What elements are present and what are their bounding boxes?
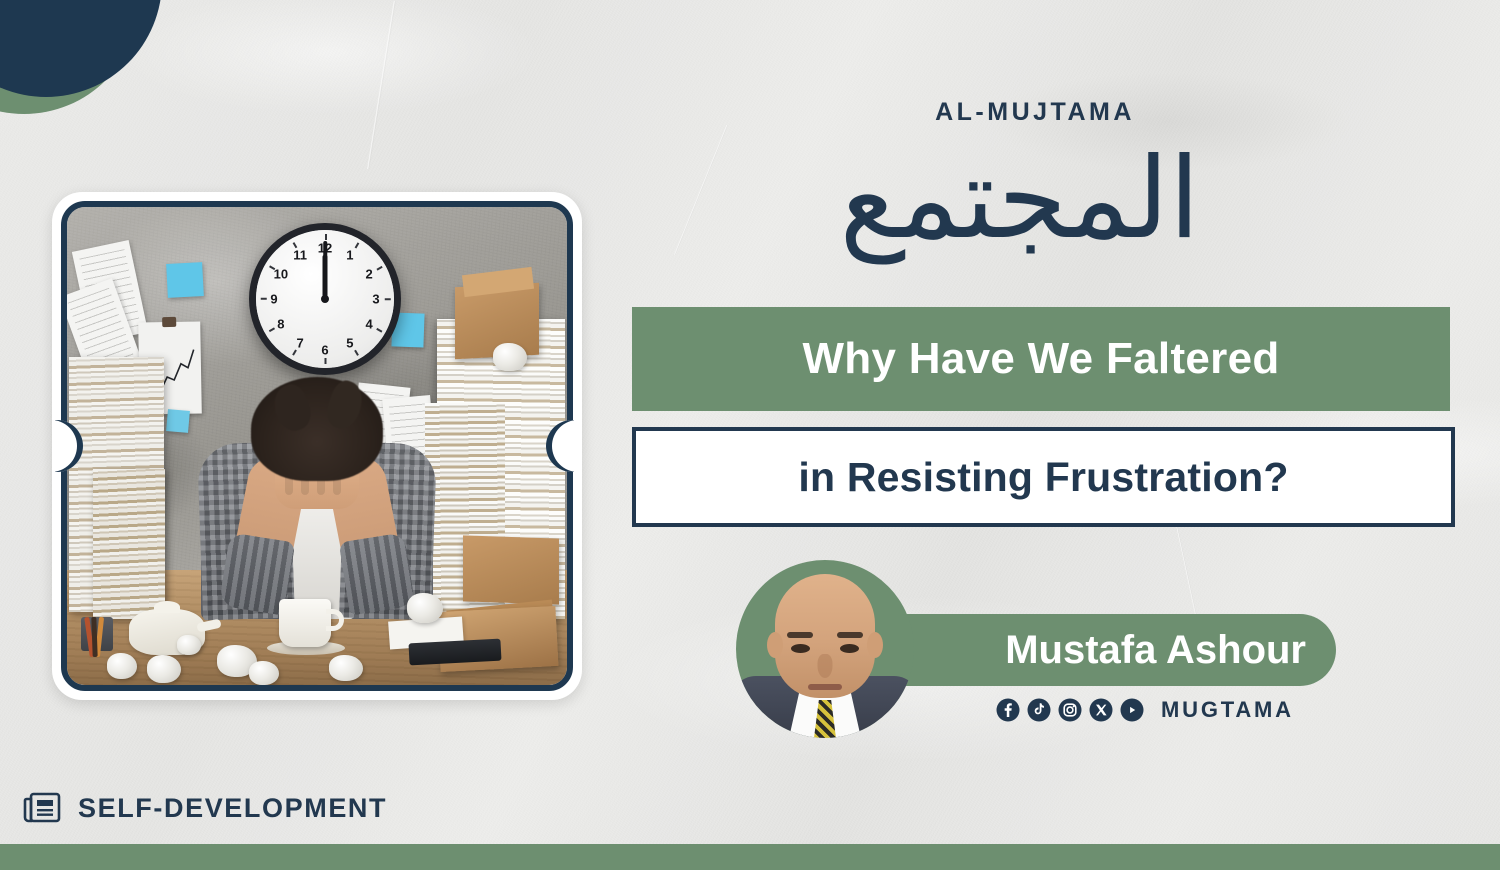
youtube-icon[interactable] [1120,698,1144,722]
hair-tuft [268,380,317,435]
chart-clip [162,317,176,327]
paper-stack [93,469,165,619]
crumpled-paper [493,343,527,371]
article-title-line-2: in Resisting Frustration? [632,427,1455,527]
clock-numeral: 1 [346,248,353,261]
sticky-note [166,262,204,298]
social-handle: MUGTAMA [1161,699,1294,721]
avatar-eye [840,644,859,653]
footer-bar [0,844,1500,870]
newspaper-icon [22,790,62,826]
avatar-brow [787,632,813,638]
clock-center-pin [321,295,329,303]
hair-tuft [322,377,368,433]
crumpled-paper [407,593,443,623]
article-title-line-1-text: Why Have We Faltered [802,337,1279,381]
clock-numeral: 8 [277,317,284,330]
teapot-lid [154,601,180,613]
category-label: SELF-DEVELOPMENT [78,795,387,822]
clock-numeral: 9 [270,293,277,306]
person-hair [251,377,383,481]
corner-circle-navy [0,0,162,97]
avatar-brow [837,632,863,638]
clock-numeral: 5 [346,337,353,350]
clock-numeral: 7 [297,337,304,350]
avatar-nose [818,654,833,678]
avatar-ear [767,632,783,658]
stressed-person [198,351,436,619]
avatar-mouth [808,684,842,690]
avatar-head [775,574,875,698]
coffee-cup [279,599,331,647]
clock-numeral: 10 [274,268,288,281]
clock-tick [261,298,267,300]
cardboard-box [463,535,559,604]
article-title-line-2-text: in Resisting Frustration? [798,457,1288,498]
clock-numeral: 4 [366,317,373,330]
author-name: Mustafa Ashour [1005,630,1306,670]
brand-wordmark: AL-MUJTAMA [870,100,1200,125]
clock-tick [325,234,327,240]
photo-frame: 12 1 2 3 4 5 6 7 8 9 10 11 [61,201,573,691]
facebook-icon[interactable] [996,698,1020,722]
crumpled-paper [329,655,363,681]
sticky-note [166,409,190,433]
crumpled-paper [147,655,181,683]
article-title-line-1: Why Have We Faltered [632,307,1450,411]
tiktok-icon[interactable] [1027,698,1051,722]
instagram-icon[interactable] [1058,698,1082,722]
clock-tick [385,298,391,300]
clock-numeral: 2 [366,268,373,281]
clock-numeral: 3 [372,293,379,306]
article-photo: 12 1 2 3 4 5 6 7 8 9 10 11 [67,207,567,685]
person-sleeve-right [339,532,416,615]
x-icon[interactable] [1089,698,1113,722]
avatar-eye [791,644,810,653]
category-row: SELF-DEVELOPMENT [22,790,387,826]
avatar-portrait [736,560,914,738]
clock-minute-hand [323,241,327,299]
brand-arabic-wordmark: المجتمع [870,129,1200,269]
corner-decoration [0,0,240,150]
author-avatar [736,560,914,738]
avatar-ear [867,632,883,658]
crumpled-paper [107,653,137,679]
social-links: MUGTAMA [996,698,1294,722]
crumpled-paper [177,635,201,655]
clock-numeral: 11 [293,248,307,261]
brand-logo: AL-MUJTAMA المجتمع [870,100,1200,269]
crumpled-paper [249,661,279,685]
